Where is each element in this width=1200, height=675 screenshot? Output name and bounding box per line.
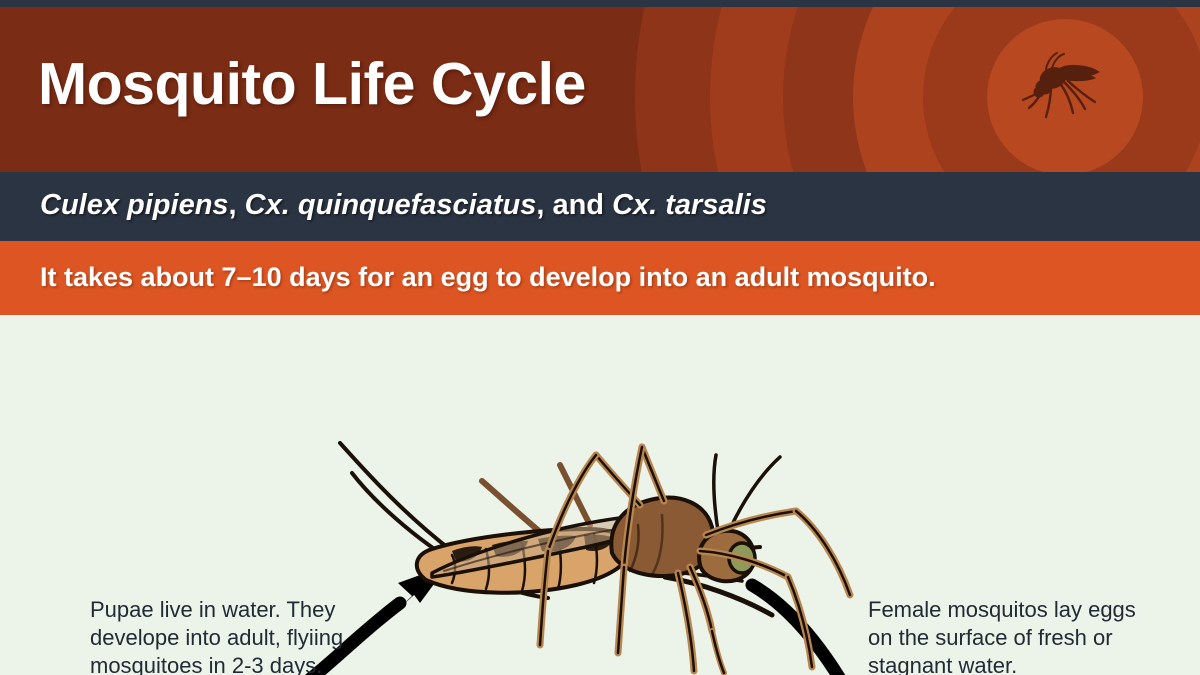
species-name-1: Culex pipiens [40,189,229,221]
species-name-2: Cx. quinquefasciatus [245,189,537,221]
species-separator-2: , and [536,189,612,221]
eggs-caption: Female mosquitos lay eggs on the surface… [868,596,1138,675]
adult-mosquito-illustration [340,443,850,673]
fact-banner: It takes about 7–10 days for an egg to d… [0,241,1200,315]
species-list: Culex pipiens, Cx. quinquefasciatus, and… [40,189,767,222]
mosquito-silhouette-icon [1015,45,1115,140]
species-band: Culex pipiens, Cx. quinquefasciatus, and… [0,172,1200,241]
life-cycle-diagram-area: Pupae live in water. They develope into … [0,315,1200,675]
pupae-caption: Pupae live in water. They develope into … [90,596,370,675]
infographic-page: Mosquito Life Cycle [0,0,1200,675]
top-accent-strip [0,0,1200,7]
species-name-3: Cx. tarsalis [612,189,767,221]
header-banner: Mosquito Life Cycle [0,7,1200,172]
fact-banner-text: It takes about 7–10 days for an egg to d… [40,262,936,293]
species-separator-1: , [229,189,245,221]
page-title: Mosquito Life Cycle [38,50,586,118]
